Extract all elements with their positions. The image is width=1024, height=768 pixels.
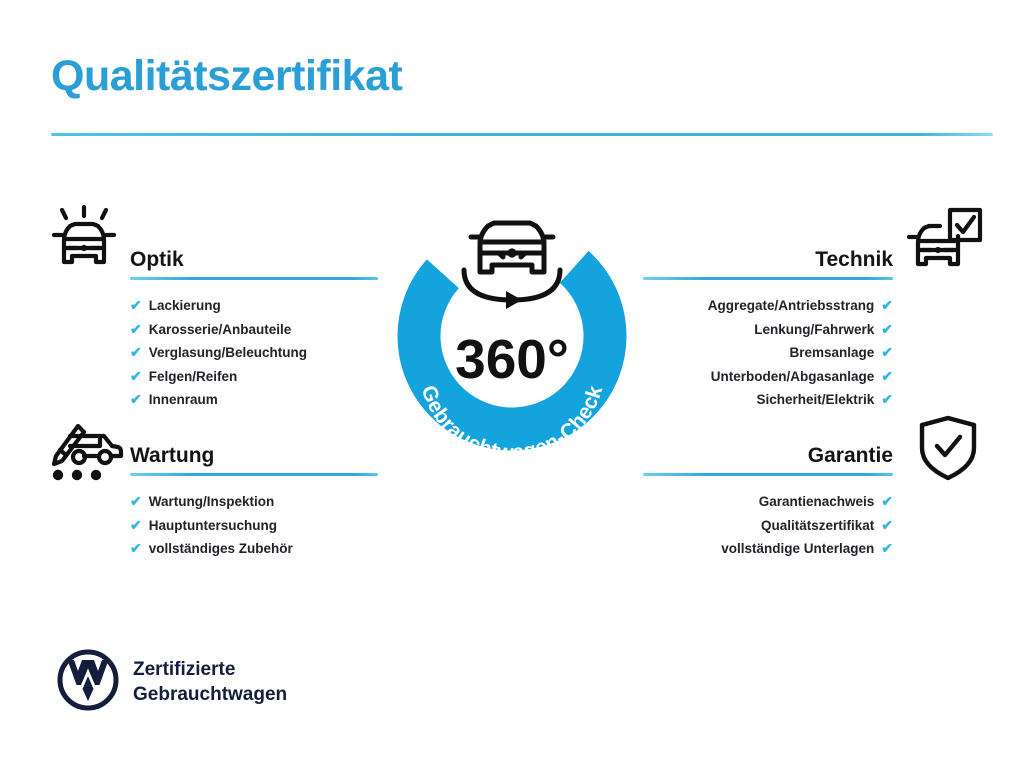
- check-icon: ✔: [881, 365, 893, 389]
- list-item-label: Bremsanlage: [789, 341, 874, 365]
- check-icon: ✔: [130, 294, 142, 318]
- check-icon: ✔: [881, 294, 893, 318]
- checklist-technik: Aggregate/Antriebsstrang✔ Lenkung/Fahrwe…: [643, 294, 893, 412]
- list-item: ✔Karosserie/Anbauteile: [130, 318, 378, 342]
- badge-value: 360°: [455, 328, 569, 390]
- list-item-label: Wartung/Inspektion: [149, 490, 275, 514]
- list-item: Bremsanlage✔: [643, 341, 893, 365]
- list-item-label: vollständiges Zubehör: [149, 537, 293, 561]
- list-item: ✔Wartung/Inspektion: [130, 490, 378, 514]
- section-divider-garantie: [643, 473, 893, 476]
- checklist-wartung: ✔Wartung/Inspektion ✔Hauptuntersuchung ✔…: [130, 490, 378, 561]
- list-item: Qualitätszertifikat✔: [643, 514, 893, 538]
- section-header-wartung: Wartung: [130, 432, 378, 470]
- list-item: Aggregate/Antriebsstrang✔: [643, 294, 893, 318]
- list-item: ✔Verglasung/Beleuchtung: [130, 341, 378, 365]
- check-icon: ✔: [881, 537, 893, 561]
- section-title-optik: Optik: [130, 248, 184, 272]
- certificate-page: Qualitätszertifikat Optik: [0, 0, 1024, 768]
- list-item: ✔Innenraum: [130, 388, 378, 412]
- car-front-lights-icon: [48, 204, 120, 274]
- list-item-label: Felgen/Reifen: [149, 365, 238, 389]
- badge-360-check: Gebrauchtwagen-Check 360°: [372, 196, 652, 496]
- vw-claim-line2: Gebrauchtwagen: [133, 682, 287, 707]
- check-icon: ✔: [881, 388, 893, 412]
- check-icon: ✔: [130, 365, 142, 389]
- checklist-garantie: Garantienachweis✔ Qualitätszertifikat✔ v…: [643, 490, 893, 561]
- checklist-optik: ✔Lackierung ✔Karosserie/Anbauteile ✔Verg…: [130, 294, 378, 412]
- vw-logo-icon: [57, 649, 119, 711]
- title-divider: [51, 133, 993, 136]
- section-divider-wartung: [130, 473, 378, 476]
- list-item: ✔Hauptuntersuchung: [130, 514, 378, 538]
- list-item: Lenkung/Fahrwerk✔: [643, 318, 893, 342]
- list-item-label: Innenraum: [149, 388, 218, 412]
- section-title-technik: Technik: [815, 248, 893, 272]
- list-item: Sicherheit/Elektrik✔: [643, 388, 893, 412]
- list-item-label: Qualitätszertifikat: [761, 514, 874, 538]
- list-item: ✔Lackierung: [130, 294, 378, 318]
- shield-check-icon: [916, 414, 980, 482]
- list-item: Unterboden/Abgasanlage✔: [643, 365, 893, 389]
- list-item: ✔Felgen/Reifen: [130, 365, 378, 389]
- list-item: ✔vollständiges Zubehör: [130, 537, 378, 561]
- car-rotate-360-icon: [464, 223, 560, 309]
- check-icon: ✔: [130, 490, 142, 514]
- pen-car-service-icon: [48, 414, 124, 482]
- check-icon: ✔: [130, 341, 142, 365]
- section-divider-technik: [643, 277, 893, 280]
- list-item-label: Aggregate/Antriebsstrang: [708, 294, 875, 318]
- list-item-label: Verglasung/Beleuchtung: [149, 341, 307, 365]
- check-icon: ✔: [881, 514, 893, 538]
- car-front-checkbox-icon: [906, 204, 984, 276]
- check-icon: ✔: [130, 318, 142, 342]
- section-header-technik: Technik: [643, 236, 893, 274]
- section-header-garantie: Garantie: [643, 432, 893, 470]
- list-item-label: Sicherheit/Elektrik: [756, 388, 874, 412]
- vw-claim-line1: Zertifizierte: [133, 657, 287, 682]
- section-title-garantie: Garantie: [808, 444, 893, 468]
- section-wartung: Wartung ✔Wartung/Inspektion ✔Hauptunters…: [130, 432, 378, 561]
- check-icon: ✔: [130, 514, 142, 538]
- section-technik: Technik Aggregate/Antriebsstrang✔ Lenkun…: [643, 236, 893, 412]
- list-item-label: Unterboden/Abgasanlage: [711, 365, 875, 389]
- check-icon: ✔: [881, 341, 893, 365]
- check-icon: ✔: [881, 490, 893, 514]
- list-item-label: Garantienachweis: [759, 490, 875, 514]
- vw-claim: Zertifizierte Gebrauchtwagen: [133, 657, 287, 707]
- list-item: vollständige Unterlagen✔: [643, 537, 893, 561]
- list-item: Garantienachweis✔: [643, 490, 893, 514]
- section-title-wartung: Wartung: [130, 444, 214, 468]
- list-item-label: Hauptuntersuchung: [149, 514, 277, 538]
- list-item-label: Karosserie/Anbauteile: [149, 318, 292, 342]
- section-garantie: Garantie Garantienachweis✔ Qualitätszert…: [643, 432, 893, 561]
- check-icon: ✔: [881, 318, 893, 342]
- section-divider-optik: [130, 277, 378, 280]
- page-title: Qualitätszertifikat: [51, 52, 402, 101]
- check-icon: ✔: [130, 537, 142, 561]
- check-icon: ✔: [130, 388, 142, 412]
- list-item-label: Lackierung: [149, 294, 221, 318]
- section-optik: Optik ✔Lackierung ✔Karosserie/Anbauteile…: [130, 236, 378, 412]
- list-item-label: Lenkung/Fahrwerk: [754, 318, 874, 342]
- section-header-optik: Optik: [130, 236, 378, 274]
- list-item-label: vollständige Unterlagen: [721, 537, 874, 561]
